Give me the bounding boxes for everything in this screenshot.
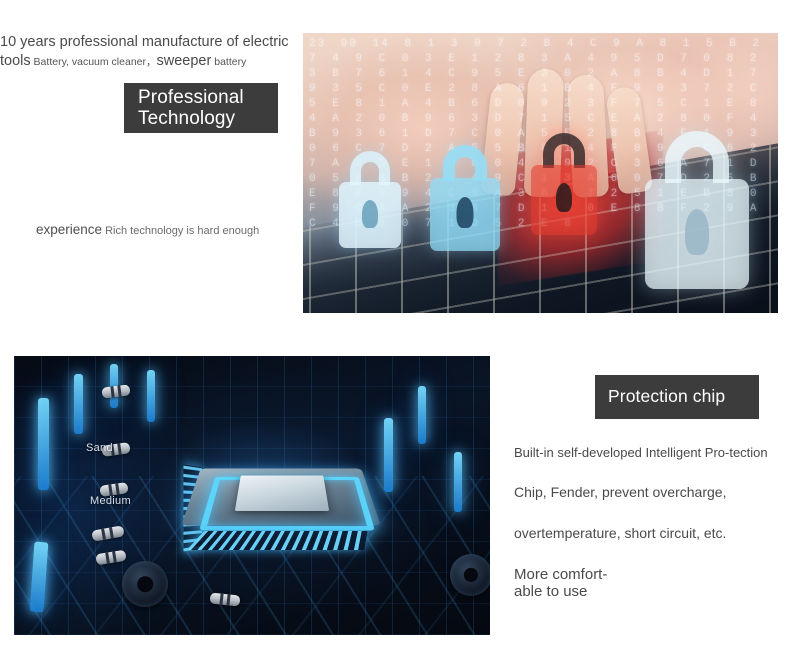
protection-line-4: More comfort- able to use	[514, 566, 786, 600]
section-title-label: Professional Technology	[138, 87, 244, 130]
glow-bar	[147, 370, 155, 422]
chip-die-surface	[235, 475, 329, 510]
experience-label: experience	[36, 222, 102, 237]
cpu-chip-graphic	[186, 418, 376, 568]
professional-technology-lead-paragraph: 10 years professional manufacture of ele…	[0, 33, 300, 72]
glow-bar	[454, 452, 462, 512]
protection-line-1: Built-in self-developed Intelligent Pro-…	[514, 444, 786, 461]
glow-bar	[38, 398, 49, 490]
board-label-sand: Sand	[86, 442, 113, 454]
lead-part-2: Battery, vacuum cleaner，	[31, 56, 157, 68]
section-title-professional-technology: Professional Technology	[124, 83, 278, 133]
lead-part-4: battery	[211, 56, 246, 68]
section-title-label: Protection chip	[608, 387, 725, 407]
glow-bar	[384, 418, 393, 492]
protection-line-2: Chip, Fender, prevent overcharge,	[514, 483, 786, 501]
padlock-cyan-icon	[430, 145, 500, 253]
lead-part-3: sweeper	[157, 53, 212, 69]
cybersecurity-keyboard-photo: 23 90 14 8 1 3 0 7 2 B 4 C 9 A 8 1 5 B 2…	[303, 33, 778, 313]
chip-front-pins	[187, 531, 368, 550]
page-root: Professional Technology 10 years profess…	[0, 0, 790, 672]
protection-chip-text-block: Built-in self-developed Intelligent Pro-…	[514, 444, 786, 600]
experience-paragraph: experience Rich technology is hard enoug…	[36, 221, 306, 239]
section-title-protection-chip: Protection chip	[595, 375, 759, 419]
padlock-small-white-icon	[339, 151, 401, 251]
padlock-red-alert-icon	[531, 133, 597, 237]
glow-bar	[418, 386, 426, 444]
capacitor-component	[450, 554, 490, 596]
padlock-large-white-icon	[645, 131, 749, 291]
glow-bar	[74, 374, 83, 434]
board-label-medium: Medium	[90, 495, 131, 507]
professional-technology-text-block: Professional Technology 10 years profess…	[0, 33, 300, 313]
circuit-board-chip-photo: Sand Medium	[14, 356, 490, 635]
capacitor-component	[122, 561, 168, 607]
experience-text: Rich technology is hard enough	[102, 225, 259, 237]
protection-line-3: overtemperature, short circuit, etc.	[514, 524, 786, 542]
